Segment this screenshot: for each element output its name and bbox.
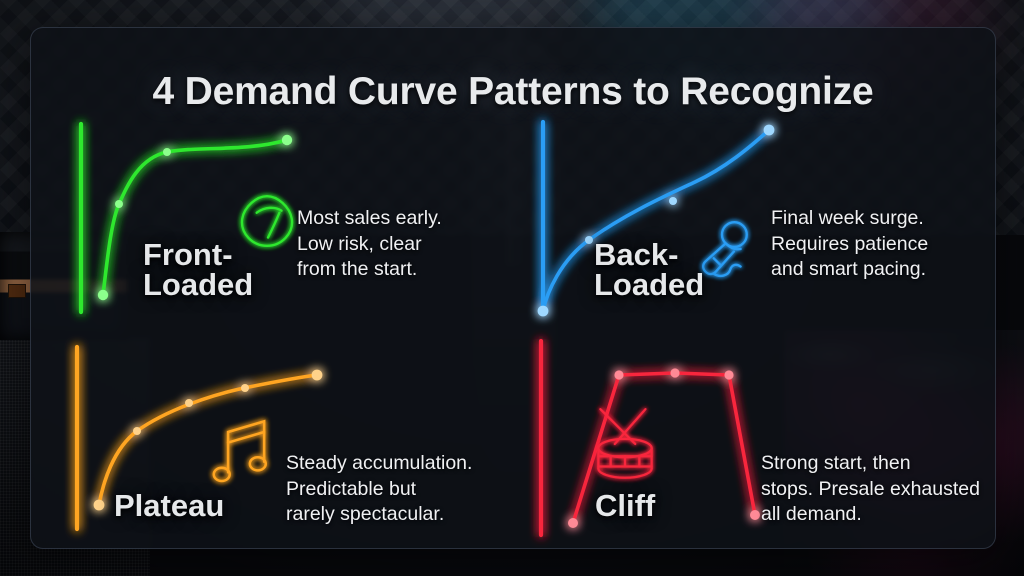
infographic-panel: 4 Demand Curve Patterns to Recognize: [30, 27, 996, 549]
pattern-description: Steady accumulation. Predictable but rar…: [286, 451, 472, 528]
pattern-label: Back- Loaded: [594, 240, 704, 300]
pattern-card-front-loaded: Front- Loaded Most sales early. Low risk…: [31, 112, 514, 327]
pattern-description: Most sales early. Low risk, clear from t…: [297, 206, 442, 283]
pattern-description: Final week surge. Requires patience and …: [771, 206, 928, 283]
pattern-label: Cliff: [595, 491, 655, 521]
pattern-description: Strong start, then stops. Presale exhaus…: [761, 451, 980, 528]
pattern-label: Plateau: [114, 491, 224, 521]
pattern-card-cliff: Cliff Strong start, then stops. Presale …: [499, 333, 982, 548]
music-note-icon: [213, 415, 275, 485]
pattern-card-back-loaded: Back- Loaded Final week surge. Requires …: [499, 112, 982, 327]
pattern-card-plateau: Plateau Steady accumulation. Predictable…: [31, 333, 514, 548]
snare-drum-icon: [584, 403, 666, 487]
pattern-label: Front- Loaded: [143, 240, 253, 300]
page-title: 4 Demand Curve Patterns to Recognize: [31, 70, 995, 114]
